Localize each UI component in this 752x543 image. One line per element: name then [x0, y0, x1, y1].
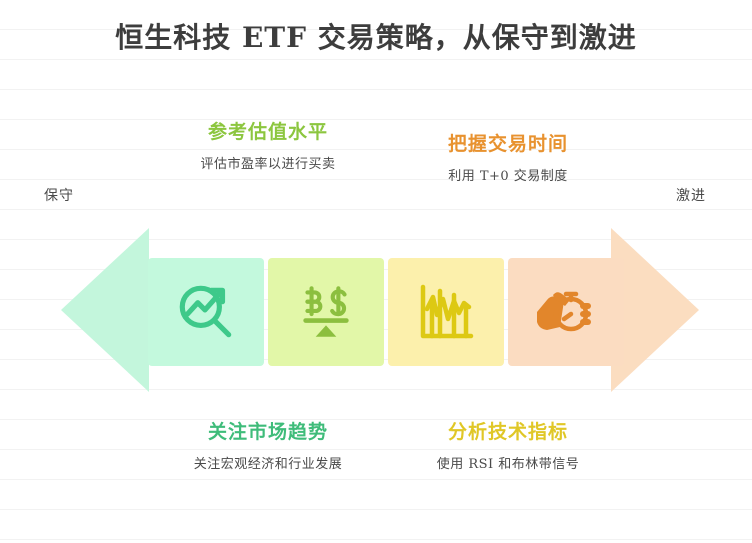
strategy-tile-strip: [148, 258, 624, 366]
callout-body: 关注宏观经济和行业发展: [153, 454, 383, 475]
callout-trading-time: 把握交易时间 利用 T+0 交易制度: [393, 131, 623, 187]
left-arrow-icon: [61, 228, 149, 392]
spectrum-right-label: 激进: [676, 185, 706, 205]
right-arrow-icon: [611, 228, 699, 392]
callout-market-trend: 关注市场趋势 关注宏观经济和行业发展: [153, 419, 383, 475]
callout-title: 分析技术指标: [393, 419, 623, 445]
tile-market-trend[interactable]: [268, 258, 384, 366]
callout-valuation: 参考估值水平 评估市盈率以进行买卖: [153, 119, 383, 175]
callout-body: 利用 T+0 交易制度: [393, 166, 623, 187]
callout-body: 使用 RSI 和布林带信号: [393, 454, 623, 475]
callout-technical-indicator: 分析技术指标 使用 RSI 和布林带信号: [393, 419, 623, 475]
page-title: 恒生科技 ETF 交易策略，从保守到激进: [0, 18, 752, 58]
magnifier-trend-icon: [173, 279, 239, 345]
callout-title: 把握交易时间: [393, 131, 623, 157]
hand-stopwatch-icon: [533, 282, 599, 342]
callout-title: 参考估值水平: [153, 119, 383, 145]
tile-trading-time[interactable]: [508, 258, 624, 366]
spectrum-left-label: 保守: [44, 185, 74, 205]
tile-valuation[interactable]: [148, 258, 264, 366]
tile-technical-indicator[interactable]: [388, 258, 504, 366]
callout-body: 评估市盈率以进行买卖: [153, 154, 383, 175]
balance-scale-bitcoin-dollar-icon: [293, 279, 359, 345]
callout-title: 关注市场趋势: [153, 419, 383, 445]
infographic-canvas: 恒生科技 ETF 交易策略，从保守到激进 保守 激进: [0, 0, 752, 543]
volatile-chart-icon: [414, 281, 478, 343]
